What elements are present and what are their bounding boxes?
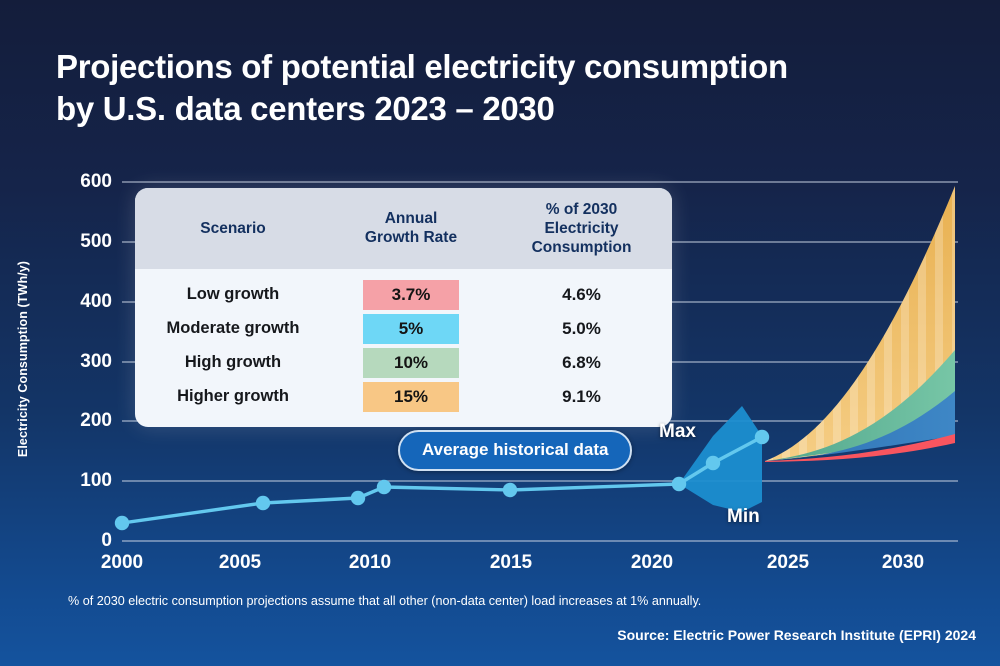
annotation-max: Max bbox=[659, 421, 696, 443]
cell-scenario: High growth bbox=[135, 353, 331, 372]
x-tick-2015: 2015 bbox=[466, 552, 556, 574]
footnote: % of 2030 electric consumption projectio… bbox=[68, 594, 948, 608]
scenario-table: Scenario Annual Growth Rate % of 2030 El… bbox=[135, 188, 672, 427]
table-header-pct-line3: Consumption bbox=[491, 239, 672, 258]
cell-pct-2030: 6.8% bbox=[491, 353, 672, 373]
table-row: Low growth 3.7% 4.6% bbox=[135, 278, 672, 312]
cell-pct-2030: 9.1% bbox=[491, 387, 672, 407]
x-tick-2010: 2010 bbox=[325, 552, 415, 574]
x-tick-2000: 2000 bbox=[77, 552, 167, 574]
table-row: High growth 10% 6.8% bbox=[135, 346, 672, 380]
table-row: Moderate growth 5% 5.0% bbox=[135, 312, 672, 346]
cell-growth-rate: 5% bbox=[363, 314, 459, 344]
y-axis-label: Electricity Consumption (TWh/y) bbox=[16, 194, 30, 524]
cell-growth-rate-wrapper: 3.7% bbox=[331, 280, 491, 310]
y-tick-200: 200 bbox=[46, 410, 112, 432]
cell-pct-2030: 5.0% bbox=[491, 319, 672, 339]
y-tick-600: 600 bbox=[46, 171, 112, 193]
y-tick-400: 400 bbox=[46, 291, 112, 313]
table-header-pct-line2: Electricity bbox=[491, 220, 672, 239]
cell-scenario: Higher growth bbox=[135, 387, 331, 406]
table-header-pct-line1: % of 2030 bbox=[491, 201, 672, 220]
table-header-growth-rate: Annual Growth Rate bbox=[331, 210, 491, 248]
table-header-scenario: Scenario bbox=[135, 220, 331, 239]
y-tick-100: 100 bbox=[46, 470, 112, 492]
cell-growth-rate: 3.7% bbox=[363, 280, 459, 310]
cell-growth-rate-wrapper: 15% bbox=[331, 382, 491, 412]
table-header-growth-rate-line1: Annual bbox=[331, 210, 491, 229]
x-tick-2020: 2020 bbox=[607, 552, 697, 574]
cell-scenario: Low growth bbox=[135, 285, 331, 304]
x-tick-2030: 2030 bbox=[858, 552, 948, 574]
cell-growth-rate-wrapper: 5% bbox=[331, 314, 491, 344]
y-tick-0: 0 bbox=[46, 530, 112, 552]
table-header-pct-2030: % of 2030 Electricity Consumption bbox=[491, 201, 672, 258]
y-tick-300: 300 bbox=[46, 351, 112, 373]
x-tick-2005: 2005 bbox=[195, 552, 285, 574]
table-header-row: Scenario Annual Growth Rate % of 2030 El… bbox=[135, 188, 672, 269]
y-tick-500: 500 bbox=[46, 231, 112, 253]
cell-growth-rate: 10% bbox=[363, 348, 459, 378]
x-tick-2025: 2025 bbox=[743, 552, 833, 574]
cell-growth-rate-wrapper: 10% bbox=[331, 348, 491, 378]
table-header-growth-rate-line2: Growth Rate bbox=[331, 229, 491, 248]
cell-growth-rate: 15% bbox=[363, 382, 459, 412]
cell-pct-2030: 4.6% bbox=[491, 285, 672, 305]
table-row: Higher growth 15% 9.1% bbox=[135, 380, 672, 414]
table-body: Low growth 3.7% 4.6% Moderate growth 5% … bbox=[135, 269, 672, 427]
source-credit: Source: Electric Power Research Institut… bbox=[617, 627, 976, 643]
cell-scenario: Moderate growth bbox=[135, 319, 331, 338]
legend-average-historical-data: Average historical data bbox=[398, 430, 632, 471]
annotation-min: Min bbox=[727, 506, 760, 528]
